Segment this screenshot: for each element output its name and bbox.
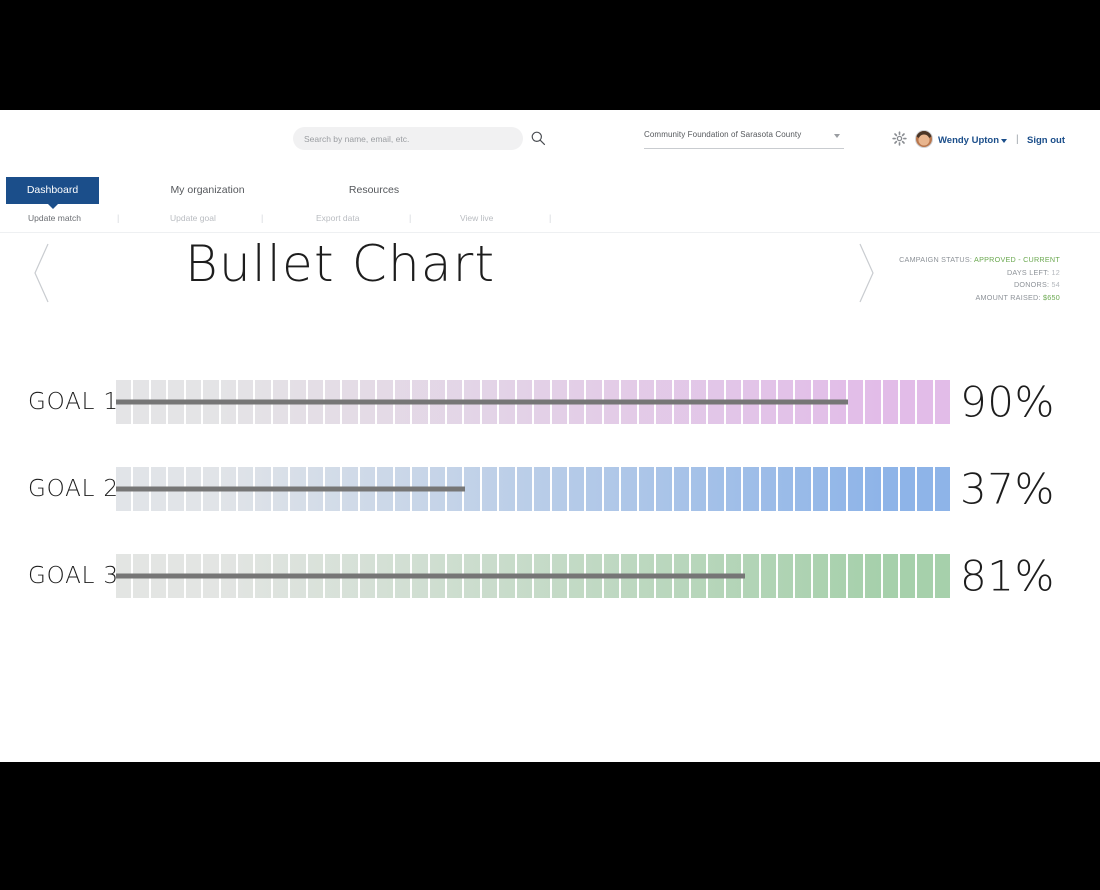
bullet-segment (917, 467, 934, 511)
bullet-segment (917, 554, 934, 598)
bullet-value-goal-3: 81% (960, 552, 1055, 601)
screen-letterbox: Community Foundation of Sarasota County … (0, 0, 1100, 890)
amount-raised-label: AMOUNT RAISED: (975, 293, 1040, 302)
tab-my-organization[interactable]: My organization (140, 177, 275, 204)
bullet-marker-goal-2 (116, 487, 465, 492)
subnav-item-view-live[interactable]: View live (460, 210, 493, 226)
donors-value: 54 (1052, 280, 1061, 289)
page-title: Bullet Chart (185, 235, 495, 293)
bullet-label-goal-1: GOAL 1 (28, 389, 119, 415)
bullet-marker-goal-1 (116, 400, 848, 405)
organization-selected-label: Community Foundation of Sarasota County (644, 130, 801, 139)
search-input[interactable] (293, 127, 523, 150)
tab-resources[interactable]: Resources (310, 177, 438, 204)
avatar-face (919, 134, 930, 145)
bullet-segment (761, 467, 778, 511)
bullet-segment (674, 467, 691, 511)
bullet-segment (865, 380, 882, 424)
bullet-segment (865, 554, 882, 598)
donors-line: DONORS: 54 (880, 279, 1060, 292)
donors-label: DONORS: (1014, 280, 1049, 289)
bullet-value-goal-2: 37% (960, 465, 1055, 514)
subnav-separator: | (117, 210, 119, 226)
bullet-segment (499, 467, 516, 511)
bullet-row-goal-2: GOAL 2 37% (0, 467, 1100, 511)
bullet-segment (621, 467, 638, 511)
subnav-separator: | (409, 210, 411, 226)
bullet-segment (813, 467, 830, 511)
subnav-item-export-data[interactable]: Export data (316, 210, 359, 226)
sub-navigation: Update match | Update goal | Export data… (0, 210, 1100, 233)
hero-section: Bullet Chart CAMPAIGN STATUS: APPROVED -… (0, 240, 1100, 340)
bullet-segment (639, 467, 656, 511)
search-field-wrapper (293, 127, 523, 150)
bullet-segment (517, 467, 534, 511)
search-icon[interactable] (530, 130, 547, 147)
organization-selector[interactable]: Community Foundation of Sarasota County (644, 130, 844, 149)
sign-out-link[interactable]: Sign out (1027, 135, 1065, 146)
bullet-segment (883, 554, 900, 598)
campaign-status-line: CAMPAIGN STATUS: APPROVED - CURRENT (880, 254, 1060, 267)
bullet-segment (656, 467, 673, 511)
bullet-segment (900, 380, 917, 424)
bullet-segment (865, 467, 882, 511)
user-name-menu[interactable]: Wendy Upton (938, 135, 999, 146)
app-canvas: Community Foundation of Sarasota County … (0, 110, 1100, 762)
avatar[interactable] (915, 130, 933, 148)
chevron-down-icon[interactable] (1001, 139, 1007, 143)
bullet-segment (708, 467, 725, 511)
top-bar: Community Foundation of Sarasota County (0, 110, 1100, 172)
header-separator: | (1016, 134, 1019, 145)
bullet-segment (848, 467, 865, 511)
amount-raised-value: $650 (1043, 293, 1060, 302)
bullet-segment (464, 467, 481, 511)
tab-dashboard[interactable]: Dashboard (6, 177, 99, 204)
bullet-row-goal-1: GOAL 1 90% (0, 380, 1100, 424)
bullet-chart: GOAL 1 90% GOAL 2 37% GOAL 3 (0, 380, 1100, 641)
campaign-status-label: CAMPAIGN STATUS: (899, 255, 972, 264)
bullet-segment (586, 467, 603, 511)
bullet-segment (795, 467, 812, 511)
main-navigation: Dashboard My organization Resources (0, 177, 1100, 207)
bullet-segment (830, 554, 847, 598)
chevron-left-icon[interactable] (30, 240, 52, 306)
bullet-segment (935, 380, 950, 424)
campaign-status-value: APPROVED - CURRENT (974, 255, 1060, 264)
bullet-marker-goal-3 (116, 574, 745, 579)
bullet-label-goal-2: GOAL 2 (28, 476, 119, 502)
bullet-segment (848, 380, 865, 424)
bullet-row-goal-3: GOAL 3 81% (0, 554, 1100, 598)
bullet-segment (900, 554, 917, 598)
bullet-segment (917, 380, 934, 424)
bullet-segment (761, 554, 778, 598)
days-left-value: 12 (1052, 268, 1061, 277)
bullet-segment (726, 467, 743, 511)
bullet-segment (813, 554, 830, 598)
bullet-segment (743, 467, 760, 511)
gear-icon[interactable] (892, 131, 907, 146)
bullet-segment (534, 467, 551, 511)
bullet-segment (795, 554, 812, 598)
bullet-segment (935, 467, 950, 511)
subnav-separator: | (549, 210, 551, 226)
bullet-value-goal-1: 90% (960, 378, 1055, 427)
bullet-segment (604, 467, 621, 511)
bullet-segment (743, 554, 760, 598)
days-left-line: DAYS LEFT: 12 (880, 267, 1060, 280)
amount-raised-line: AMOUNT RAISED: $650 (880, 292, 1060, 305)
bullet-segment (691, 467, 708, 511)
campaign-status-panel: CAMPAIGN STATUS: APPROVED - CURRENT DAYS… (880, 254, 1060, 304)
subnav-separator: | (261, 210, 263, 226)
bullet-segment (569, 467, 586, 511)
days-left-label: DAYS LEFT: (1007, 268, 1049, 277)
subnav-item-update-match[interactable]: Update match (28, 210, 81, 226)
bullet-segment (883, 467, 900, 511)
bullet-segment (830, 467, 847, 511)
bullet-segment (778, 467, 795, 511)
bullet-segment (482, 467, 499, 511)
bullet-label-goal-3: GOAL 3 (28, 563, 119, 589)
bullet-segment (883, 380, 900, 424)
bullet-segment (778, 554, 795, 598)
bullet-segment (935, 554, 950, 598)
bullet-segment (900, 467, 917, 511)
subnav-item-update-goal[interactable]: Update goal (170, 210, 216, 226)
bullet-segment (552, 467, 569, 511)
bullet-segment (848, 554, 865, 598)
chevron-right-icon[interactable] (855, 240, 877, 306)
chevron-down-icon (834, 134, 840, 138)
